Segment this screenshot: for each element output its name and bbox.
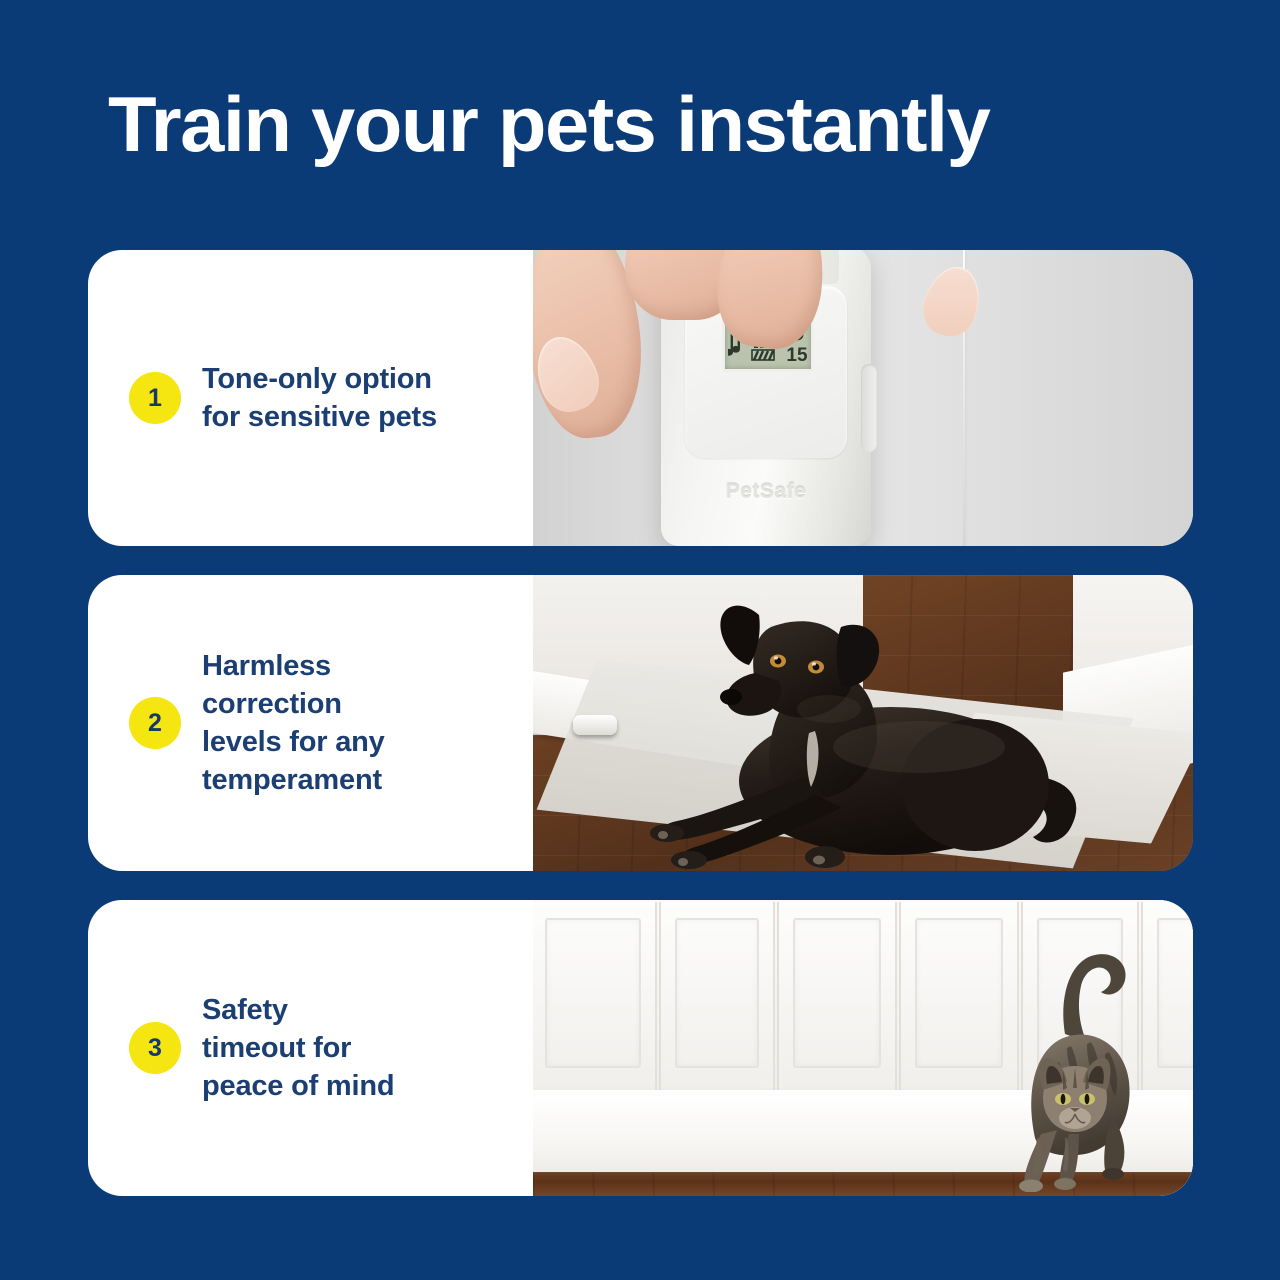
cabinet-panel bbox=[533, 902, 657, 1090]
tabby-cat-illustration bbox=[939, 942, 1169, 1192]
card-2-number-badge: 2 bbox=[129, 697, 181, 749]
card-2-label: Harmless correction levels for any tempe… bbox=[202, 647, 385, 799]
lcd-level-value: 15 bbox=[786, 345, 808, 365]
remote-side-button bbox=[861, 364, 877, 452]
feature-card-3[interactable]: 3 Safety timeout for peace of mind bbox=[88, 900, 1193, 1196]
page-title: Train your pets instantly bbox=[108, 84, 1205, 164]
feature-card-1[interactable]: 1 Tone-only option for sensitive pets bbox=[88, 250, 1193, 546]
card-1-text-panel: 1 Tone-only option for sensitive pets bbox=[88, 250, 533, 546]
black-dog-illustration bbox=[619, 581, 1119, 871]
card-2-text-panel: 2 Harmless correction levels for any tem… bbox=[88, 575, 533, 871]
feature-card-2[interactable]: 2 Harmless correction levels for any tem… bbox=[88, 575, 1193, 871]
petsafe-brand-label: PetSafe bbox=[661, 480, 871, 504]
cabinet-panel bbox=[659, 902, 775, 1090]
feature-card-list: 1 Tone-only option for sensitive pets bbox=[88, 250, 1193, 1225]
card-3-media-tabby-cat-photo bbox=[533, 900, 1193, 1196]
card-1-number-badge: 1 bbox=[129, 372, 181, 424]
card-3-label: Safety timeout for peace of mind bbox=[202, 991, 394, 1105]
card-1-media-hand-holding-petsafe-remote: 15 PetSafe bbox=[533, 250, 1193, 546]
cabinet-panel bbox=[777, 902, 897, 1090]
card-2-media-black-dog-photo bbox=[533, 575, 1193, 871]
card-3-number-badge: 3 bbox=[129, 1022, 181, 1074]
card-3-text-panel: 3 Safety timeout for peace of mind bbox=[88, 900, 533, 1196]
card-1-label: Tone-only option for sensitive pets bbox=[202, 360, 437, 436]
white-transmitter-device bbox=[573, 715, 617, 735]
